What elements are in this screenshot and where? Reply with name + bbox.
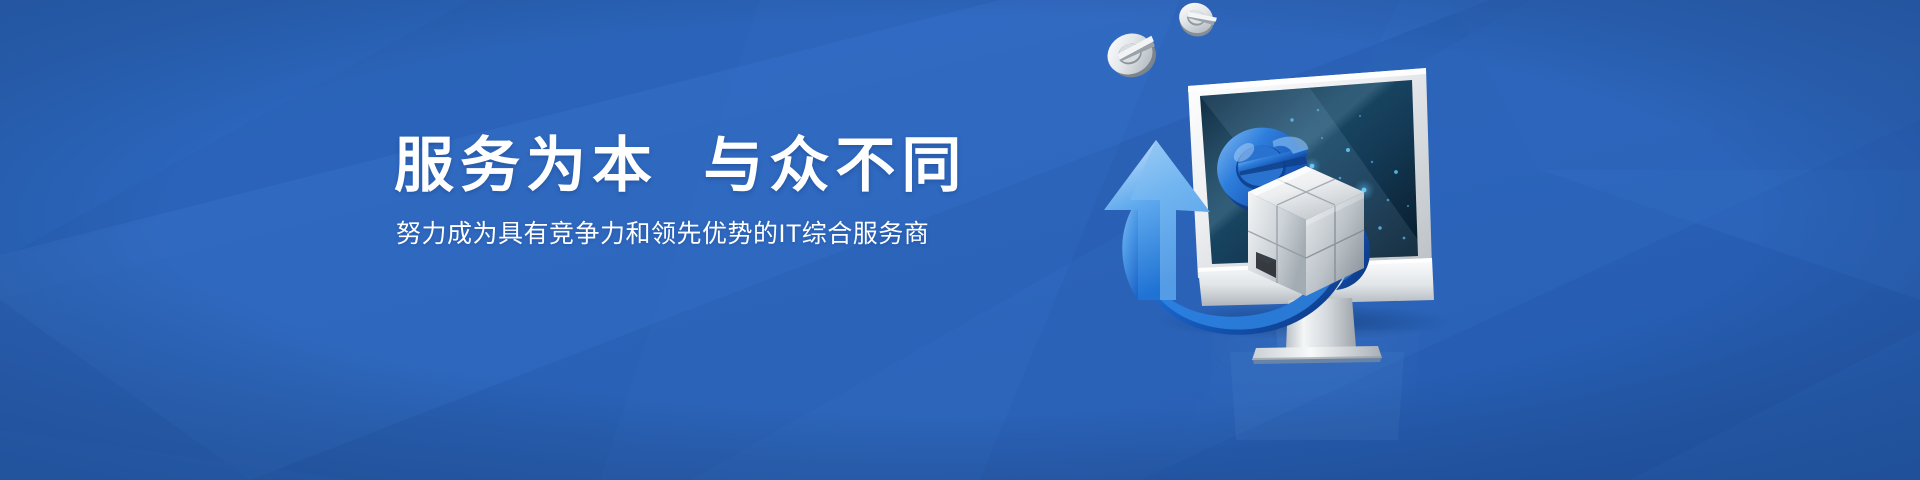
ie-logo-mid [1101, 25, 1165, 86]
ie-logo-small [1175, 0, 1220, 41]
hero-banner: 服务为本 与众不同 努力成为具有竞争力和领先优势的IT综合服务商 [0, 0, 1920, 480]
imac-monitor-illustration [1060, 0, 1490, 480]
polygon-background [0, 0, 1920, 480]
